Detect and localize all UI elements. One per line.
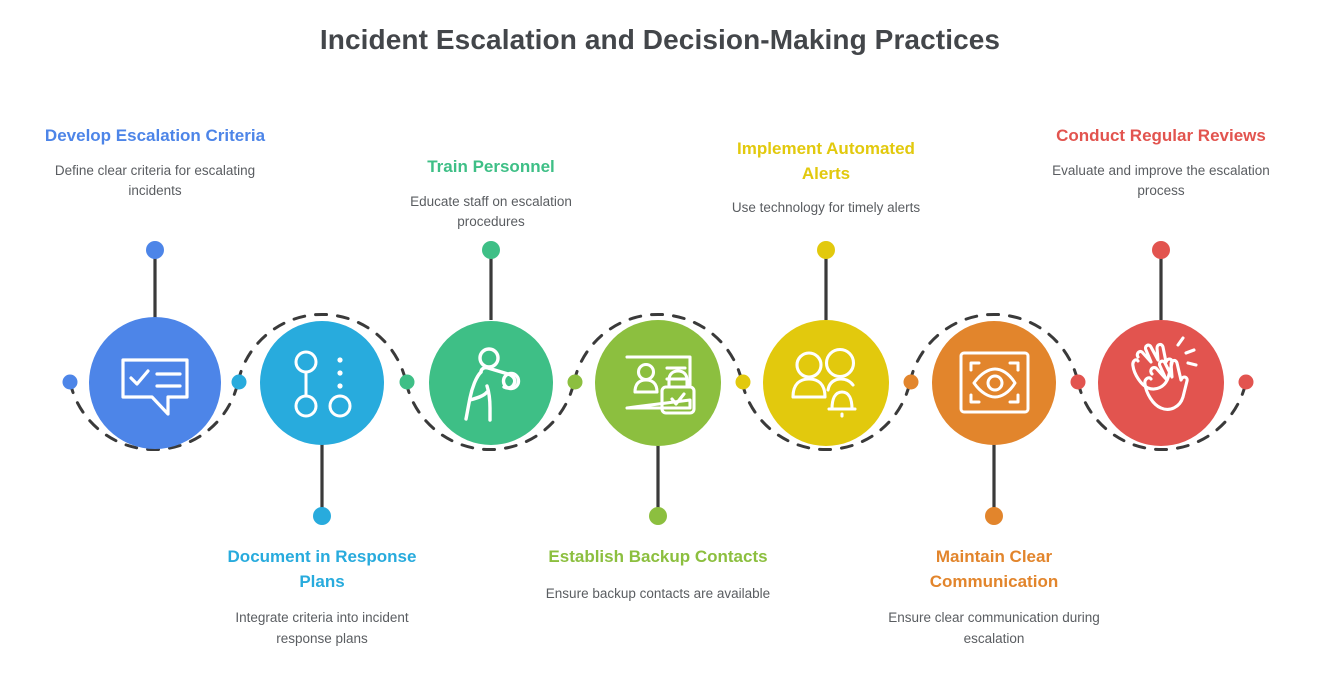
step-description-7: Evaluate and improve the escalation proc… bbox=[1046, 161, 1276, 202]
stem-dot-5 bbox=[817, 241, 835, 259]
step-label-3: Train Personnel Educate staff on escalat… bbox=[376, 155, 606, 232]
step-description-1: Define clear criteria for escalating inc… bbox=[40, 161, 270, 202]
step-title-3: Train Personnel bbox=[376, 155, 606, 180]
step-label-2: Document in Response Plans Integrate cri… bbox=[207, 545, 437, 649]
step-circle-7[interactable] bbox=[1098, 320, 1224, 446]
step-circle-5[interactable] bbox=[763, 320, 889, 446]
step-description-4: Ensure backup contacts are available bbox=[543, 584, 773, 604]
path-dot-5 bbox=[904, 375, 919, 390]
step-title-2: Document in Response Plans bbox=[207, 545, 437, 594]
path-dot-6 bbox=[1071, 375, 1086, 390]
path-dot-4 bbox=[736, 375, 751, 390]
step-title-6: Maintain Clear Communication bbox=[879, 545, 1109, 594]
step-title-4: Establish Backup Contacts bbox=[543, 545, 773, 570]
step-title-1: Develop Escalation Criteria bbox=[40, 124, 270, 149]
step-label-6: Maintain Clear Communication Ensure clea… bbox=[879, 545, 1109, 649]
step-description-6: Ensure clear communication during escala… bbox=[879, 608, 1109, 649]
step-label-7: Conduct Regular Reviews Evaluate and imp… bbox=[1046, 124, 1276, 201]
step-circle-4[interactable] bbox=[595, 320, 721, 446]
step-circle-3[interactable] bbox=[429, 321, 553, 445]
stem-dot-6 bbox=[985, 507, 1003, 525]
step-label-5: Implement Automated Alerts Use technolog… bbox=[711, 137, 941, 219]
stem-dot-2 bbox=[313, 507, 331, 525]
step-label-1: Develop Escalation Criteria Define clear… bbox=[40, 124, 270, 201]
path-dot-start bbox=[63, 375, 78, 390]
stem-dot-3 bbox=[482, 241, 500, 259]
stem-dot-1 bbox=[146, 241, 164, 259]
step-title-5: Implement Automated Alerts bbox=[711, 137, 941, 186]
step-description-3: Educate staff on escalation procedures bbox=[376, 192, 606, 233]
step-circle-2[interactable] bbox=[260, 321, 384, 445]
path-dot-3 bbox=[568, 375, 583, 390]
stem-dot-7 bbox=[1152, 241, 1170, 259]
step-circle-1[interactable] bbox=[89, 317, 221, 449]
step-title-7: Conduct Regular Reviews bbox=[1046, 124, 1276, 149]
path-dot-end bbox=[1239, 375, 1254, 390]
step-description-2: Integrate criteria into incident respons… bbox=[207, 608, 437, 649]
step-description-5: Use technology for timely alerts bbox=[711, 198, 941, 218]
stem-dot-4 bbox=[649, 507, 667, 525]
path-dot-1 bbox=[232, 375, 247, 390]
path-dot-2 bbox=[400, 375, 415, 390]
step-circle-6[interactable] bbox=[932, 321, 1056, 445]
step-label-4: Establish Backup Contacts Ensure backup … bbox=[543, 545, 773, 604]
